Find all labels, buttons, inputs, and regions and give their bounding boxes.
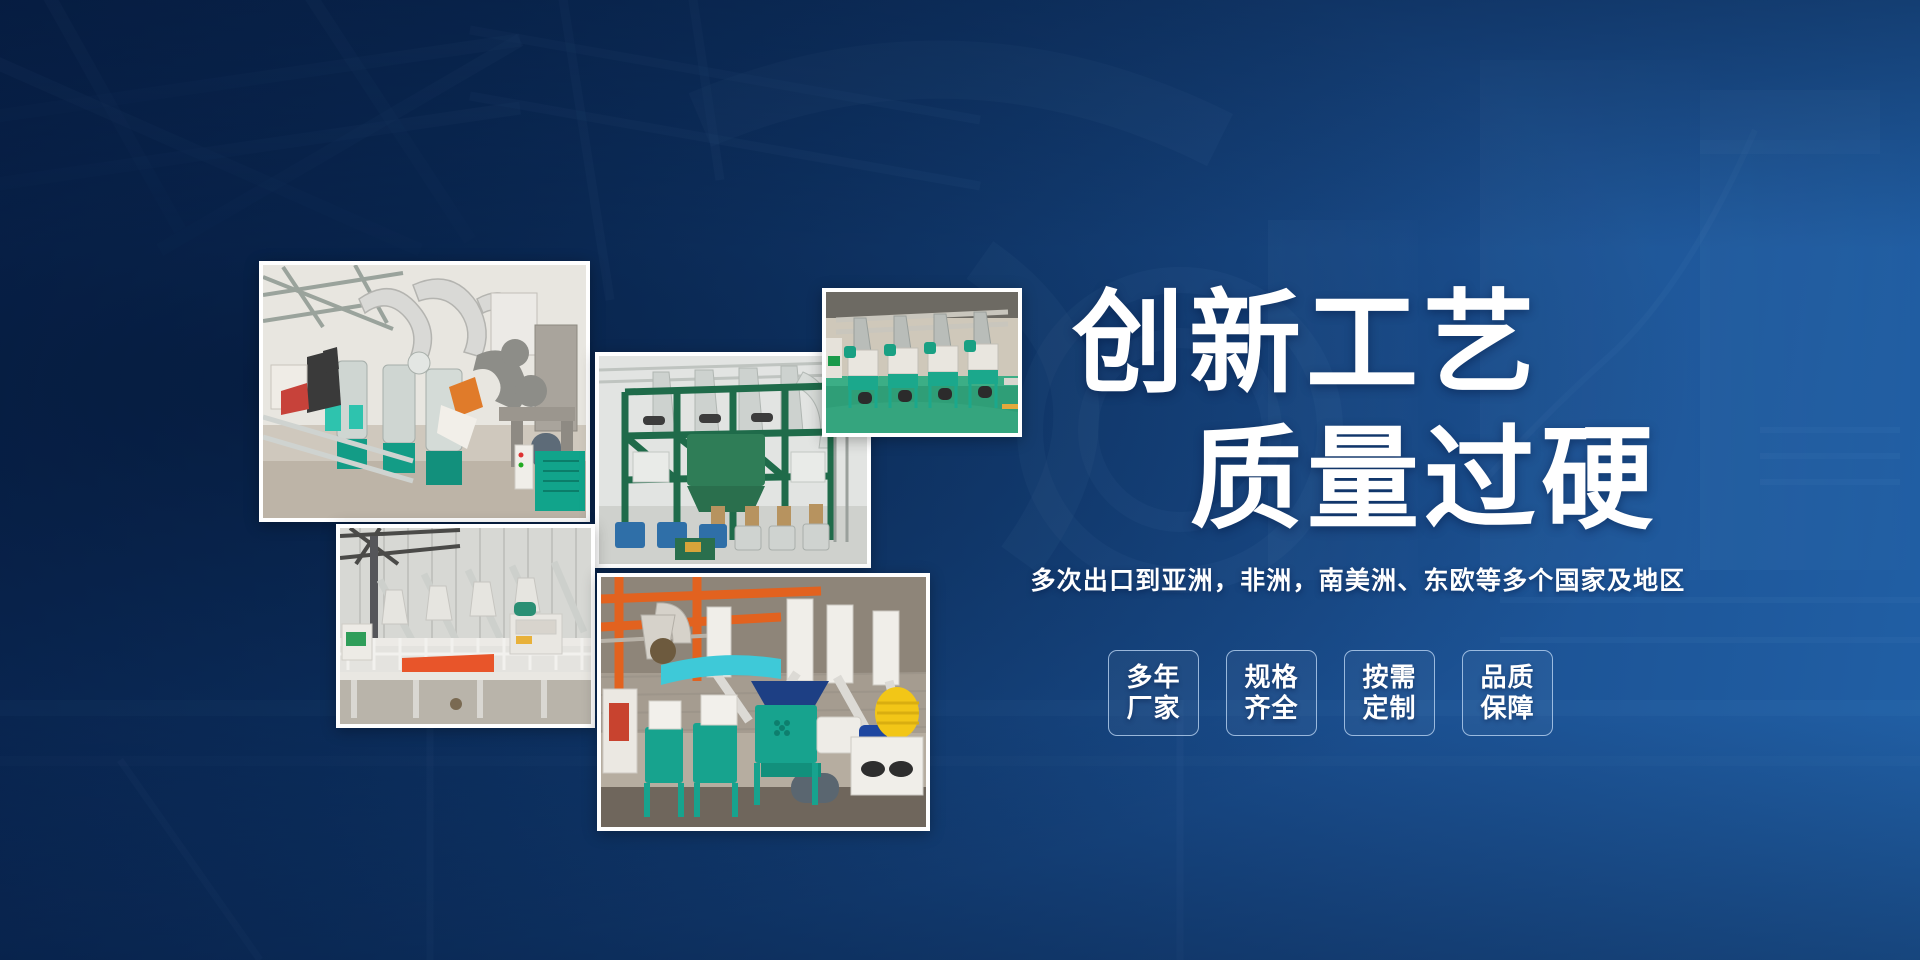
promo-banner: 创新工艺 质量过硬 多次出口到亚洲，非洲，南美洲、东欧等多个国家及地区 多年 厂… — [0, 0, 1920, 960]
photo-white-line-bottom-left — [336, 524, 595, 728]
photo-teal-plant-bottom-right — [597, 573, 930, 831]
badge-years-manufacturer[interactable]: 多年 厂家 — [1108, 650, 1199, 736]
badge-custom-made[interactable]: 按需 定制 — [1344, 650, 1435, 736]
badge-line-bottom: 定制 — [1362, 693, 1416, 724]
badge-quality-guarantee[interactable]: 品质 保障 — [1462, 650, 1553, 736]
subtitle: 多次出口到亚洲，非洲，南美洲、东欧等多个国家及地区 — [1008, 561, 1708, 597]
feature-badges: 多年 厂家 规格 齐全 按需 定制 品质 保障 — [1108, 650, 1553, 736]
badge-line-top: 按需 — [1362, 662, 1416, 693]
badge-line-top: 品质 — [1480, 662, 1534, 693]
badge-line-bottom: 保障 — [1480, 693, 1534, 724]
content-block: 创新工艺 质量过硬 多次出口到亚洲，非洲，南美洲、东欧等多个国家及地区 多年 厂… — [1000, 0, 1920, 960]
photo-collage — [0, 0, 1020, 960]
badge-full-specs[interactable]: 规格 齐全 — [1226, 650, 1317, 736]
headline-line-1: 创新工艺 — [1072, 288, 1540, 400]
badge-line-bottom: 齐全 — [1244, 693, 1298, 724]
badge-line-top: 多年 — [1126, 662, 1180, 693]
badge-line-bottom: 厂家 — [1126, 693, 1180, 724]
headline-line-2: 质量过硬 — [1190, 424, 1658, 536]
badge-line-top: 规格 — [1244, 662, 1298, 693]
photo-teal-mills-top-right — [822, 288, 1022, 437]
photo-milling-line-top-left — [259, 261, 590, 522]
